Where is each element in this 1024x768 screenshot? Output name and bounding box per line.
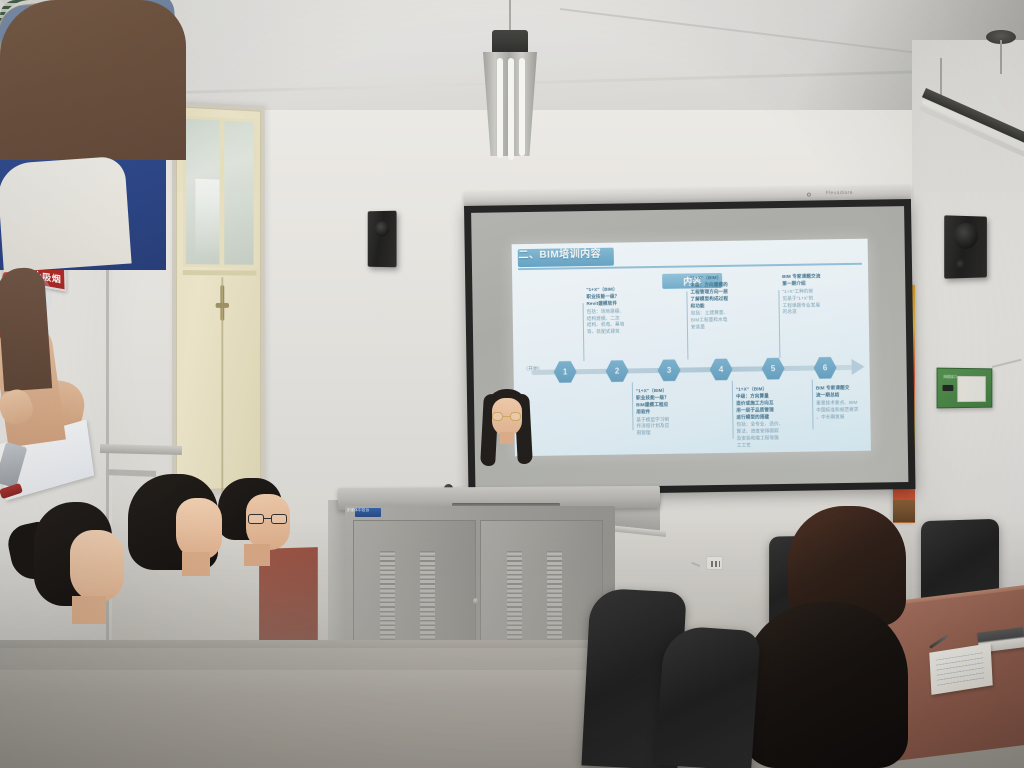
panel-label: 网络接口 — [944, 374, 957, 379]
speaker-tweeter-icon — [956, 259, 964, 268]
panel-faceplate — [957, 376, 986, 402]
timeline-node: 3 — [657, 359, 680, 382]
fluorescent-tube-icon — [508, 58, 514, 160]
light-support-rod — [1000, 40, 1002, 74]
projector-screen-surface: 二、BIM培训内容 内容 （开始） 1 2 3 4 5 6 — [471, 206, 908, 489]
brand-logo-icon — [807, 193, 811, 197]
callout-above-3: BIM 专家课题交流 第一期介绍 "1+X"工种的常 见基于"1+X"的 工程课… — [782, 273, 845, 316]
pendant-light-wire — [509, 0, 511, 34]
attendee-brown-top — [0, 0, 186, 424]
timeline-node: 2 — [605, 359, 628, 382]
callout-above-2: "1+X"（BIM） 中级：方向建模的 工程管理方向一层 了解模型构成过程 和功… — [690, 275, 749, 332]
attendee2-face — [176, 498, 222, 560]
light-support-rod — [940, 58, 942, 98]
callout-above-1: "1+X"（BIM） 职业技能一级？ Revit建模软件 包括：场地建模、 结构… — [586, 286, 645, 336]
fluorescent-tube-icon — [519, 58, 525, 156]
podium-label-text: 多媒体中控台 — [345, 506, 371, 515]
callout-sub: 基于模型学习制 作流程计划及应 用管理 — [636, 416, 694, 438]
glasses-icon — [248, 514, 290, 524]
callout-sub: 包括：全专业、造价、 算法、进度安排跟踪 及安装和竣工程等施 工工艺 — [736, 421, 794, 449]
callout-sub: 包括：土建算量、 BIM工程量和水电 安装量 — [691, 310, 749, 332]
glasses-icon — [492, 412, 522, 421]
door-panel — [176, 106, 261, 492]
timeline-node: 1 — [553, 360, 576, 383]
notebook-handwriting — [936, 652, 985, 686]
screen-brand-label: Flexadiare — [826, 190, 853, 196]
timeline-arrow-icon — [851, 359, 864, 375]
callout-below-3: BIM 专家课题交 流一期总结 重要技术要点、BIM 中国标准和规范要求 、中长… — [816, 385, 873, 421]
photo-scene: 为了您和他人的健康 NO SMOKING 禁止吸烟 — [0, 0, 1024, 768]
callout-leader — [583, 303, 585, 361]
timeline-node: 4 — [709, 358, 732, 381]
callout-header: "1+X"（BIM） 中级：方向建模的 工程管理方向一层 了解模型构成过程 和功… — [690, 275, 749, 310]
glasses-lens-left — [492, 412, 503, 421]
attendee2-neck — [182, 552, 210, 576]
callout-leader — [686, 292, 688, 360]
wall-speaker-left — [368, 211, 397, 268]
attendee1-top — [0, 0, 186, 160]
door-latch[interactable] — [216, 303, 229, 308]
callout-header: "1+X"（BIM） 职业技能一级？ BIM建模工程应 用软件 — [636, 387, 694, 415]
glasses-bridge — [503, 416, 510, 417]
slide-title: 二、BIM培训内容 — [512, 243, 608, 263]
timeline-axis — [532, 365, 854, 375]
door-mullion — [219, 117, 224, 267]
callout-leader — [812, 380, 814, 430]
callout-leader — [732, 381, 734, 439]
wall-network-panel[interactable]: 网络接口 — [937, 368, 993, 409]
attendee1-hand — [0, 386, 37, 429]
glasses-bridge — [264, 518, 271, 519]
callout-sub: "1+X"工种的常 见基于"1+X"的 工程课题专业发展 的总览 — [782, 288, 844, 317]
presenter-neck — [500, 432, 514, 444]
speaker-cone-icon — [375, 221, 389, 236]
callout-header: "1+X"（BIM） 职业技能一级？ Revit建模软件 — [586, 286, 644, 308]
callout-leader — [778, 290, 780, 358]
callout-below-1: "1+X"（BIM） 职业技能一级？ BIM建模工程应 用软件 基于模型学习制 … — [636, 387, 695, 437]
fluorescent-tube-icon — [497, 58, 503, 158]
callout-header: BIM 专家课题交流 第一期介绍 — [782, 273, 844, 288]
panel-port-icon — [943, 385, 954, 391]
pendant-light-head — [492, 30, 528, 54]
wall-speaker-right — [944, 215, 987, 278]
attendee5-hair — [742, 602, 908, 768]
presentation-slide: 二、BIM培训内容 内容 （开始） 1 2 3 4 5 6 — [512, 239, 871, 457]
callout-header: BIM 专家课题交 流一期总结 — [816, 385, 872, 400]
callout-sub: 包括：场地建模、 结构建模、二次 结构、机电、幕墙 等、装配式建筑 — [587, 308, 645, 336]
attendee3-neck — [244, 544, 270, 566]
glasses-lens-right — [271, 514, 287, 524]
attendee1-face — [70, 530, 124, 602]
callout-leader — [632, 382, 634, 430]
attendee1-neck — [72, 596, 106, 624]
office-chair-foreground-2[interactable] — [655, 625, 761, 768]
glasses-lens-right — [510, 412, 521, 421]
callout-sub: 重要技术要点、BIM 中国标准和规范要求 、中长期发展 — [816, 399, 872, 421]
callout-header: "1+X"（BIM） 中级：方向算量 造价或施工方向互 用一层于品质管理 进行模… — [736, 386, 795, 421]
white-bag — [0, 156, 132, 273]
timeline-node: 5 — [761, 357, 784, 380]
callout-below-2: "1+X"（BIM） 中级：方向算量 造价或施工方向互 用一层于品质管理 进行模… — [736, 386, 795, 450]
door-rail — [183, 270, 257, 275]
timeline-node: 6 — [813, 356, 836, 379]
glasses-lens-left — [248, 514, 264, 524]
banner-base — [893, 500, 915, 522]
smartphone-icon[interactable] — [0, 442, 27, 488]
speaker-cone-icon — [954, 223, 978, 249]
attendee1-arm — [0, 266, 52, 391]
